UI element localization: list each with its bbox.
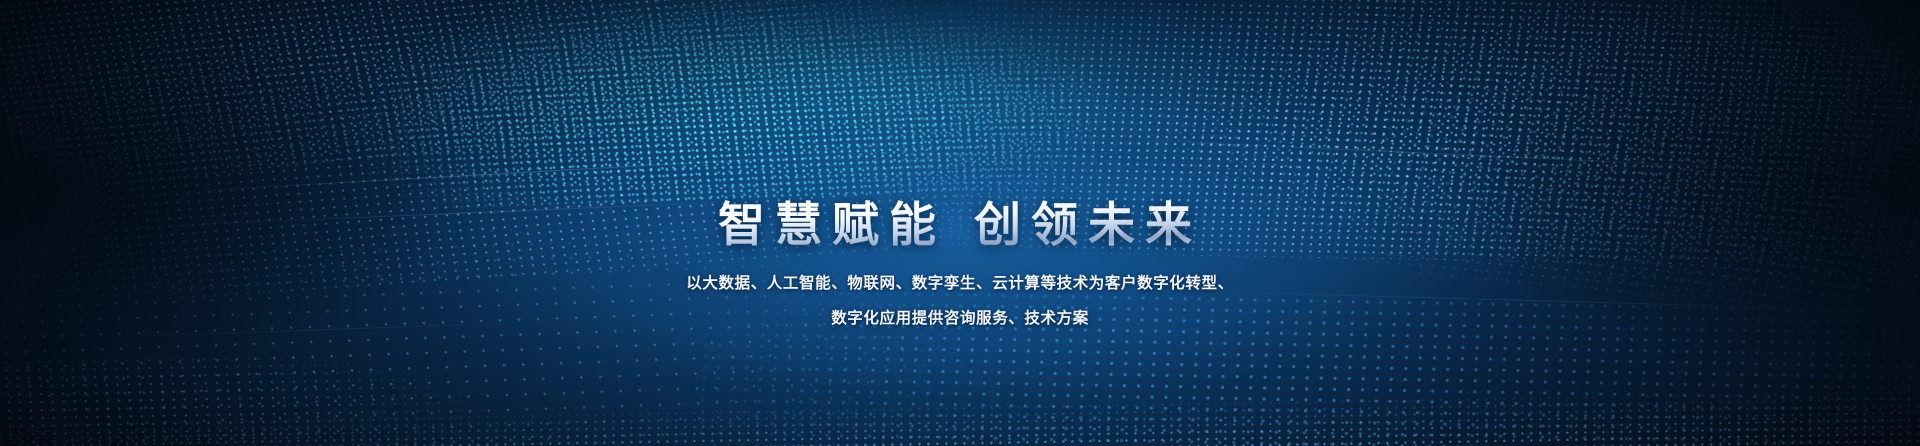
banner-content: 智慧赋能创领未来 以大数据、人工智能、物联网、数字孪生、云计算等技术为客户数字化… xyxy=(0,196,1920,337)
subtitle-line-1: 以大数据、人工智能、物联网、数字孪生、云计算等技术为客户数字化转型、 xyxy=(0,267,1920,302)
headline-part-2: 创领未来 xyxy=(974,198,1202,251)
headline-part-1: 智慧赋能 xyxy=(718,198,946,251)
banner-subtitle: 以大数据、人工智能、物联网、数字孪生、云计算等技术为客户数字化转型、 数字化应用… xyxy=(0,267,1920,337)
hero-banner: 智慧赋能创领未来 以大数据、人工智能、物联网、数字孪生、云计算等技术为客户数字化… xyxy=(0,0,1920,446)
subtitle-line-2: 数字化应用提供咨询服务、技术方案 xyxy=(0,302,1920,337)
banner-headline: 智慧赋能创领未来 xyxy=(0,196,1920,253)
